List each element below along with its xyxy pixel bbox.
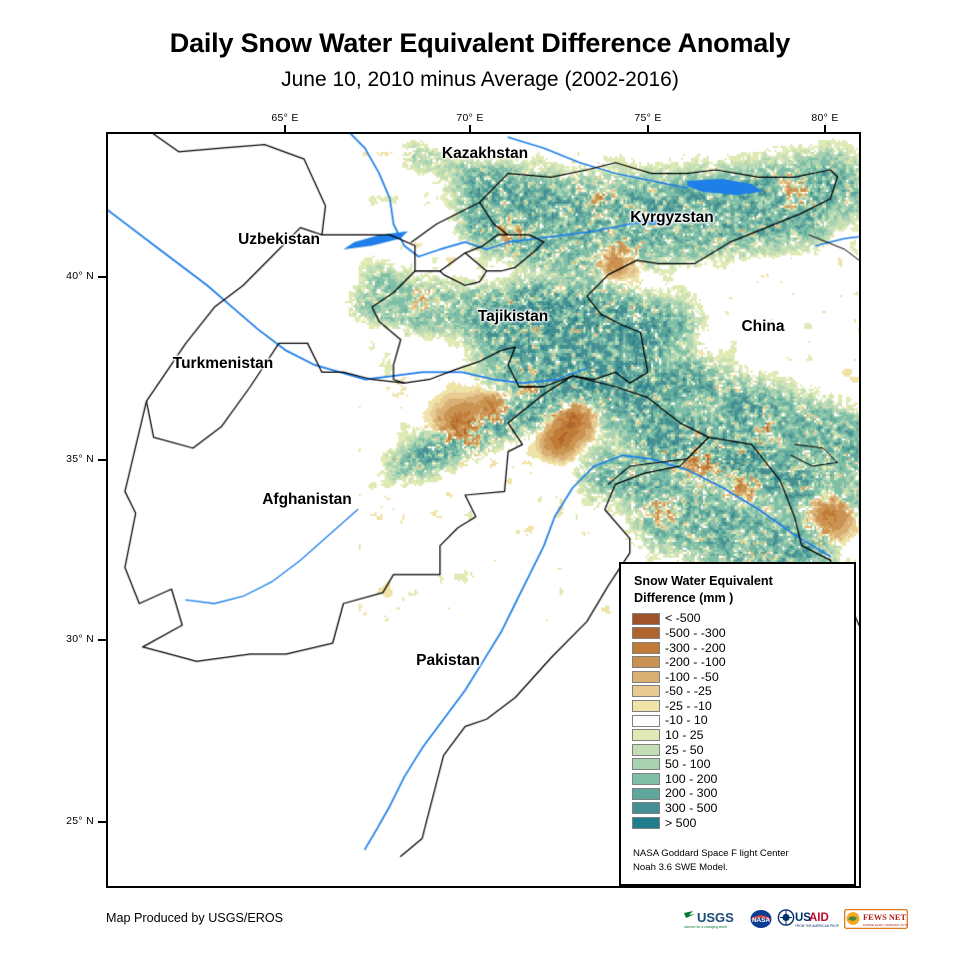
country-label-afghanistan: Afghanistan xyxy=(262,491,352,509)
legend-row: -100 - -50 xyxy=(632,670,854,685)
legend-row: > 500 xyxy=(632,816,854,831)
lat-tick xyxy=(98,639,106,641)
lat-tick xyxy=(98,459,106,461)
legend-label: -200 - -100 xyxy=(665,656,726,668)
legend-row: 200 - 300 xyxy=(632,786,854,801)
svg-text:USGS: USGS xyxy=(697,910,734,925)
svg-text:science for a changing world: science for a changing world xyxy=(684,925,727,929)
legend-row: 50 - 100 xyxy=(632,757,854,772)
legend-label: 100 - 200 xyxy=(665,773,717,785)
svg-text:FAMINE EARLY WARNING SYSTEMS N: FAMINE EARLY WARNING SYSTEMS NETWORK xyxy=(863,923,908,927)
legend-swatch xyxy=(632,685,660,697)
lon-label: 80° E xyxy=(795,112,855,124)
legend-swatch xyxy=(632,642,660,654)
legend-swatch xyxy=(632,758,660,770)
legend-row: -300 - -200 xyxy=(632,640,854,655)
page-subtitle: June 10, 2010 minus Average (2002-2016) xyxy=(0,68,960,92)
legend-swatch xyxy=(632,773,660,785)
legend-label: -10 - 10 xyxy=(665,714,708,726)
fewsnet-logo[interactable]: FEWS NET FAMINE EARLY WARNING SYSTEMS NE… xyxy=(844,909,908,929)
legend-row: 300 - 500 xyxy=(632,801,854,816)
lon-label: 70° E xyxy=(440,112,500,124)
usgs-logo[interactable]: USGS science for a changing world xyxy=(683,909,745,929)
legend-title-line2: Difference (mm ) xyxy=(634,590,854,607)
lon-label: 75° E xyxy=(618,112,678,124)
svg-text:AID: AID xyxy=(809,912,829,924)
legend-swatch xyxy=(632,627,660,639)
legend-swatch xyxy=(632,613,660,625)
svg-text:NASA: NASA xyxy=(752,917,770,924)
legend-label: 10 - 25 xyxy=(665,729,704,741)
legend-swatch xyxy=(632,671,660,683)
legend-row: 100 - 200 xyxy=(632,772,854,787)
country-label-turkmenistan: Turkmenistan xyxy=(173,355,274,373)
legend-title: Snow Water Equivalent Difference (mm ) xyxy=(621,564,854,609)
legend-title-line1: Snow Water Equivalent xyxy=(634,573,854,590)
legend-label: 25 - 50 xyxy=(665,744,704,756)
map-credit: Map Produced by USGS/EROS xyxy=(106,911,283,925)
lat-label: 35° N xyxy=(36,453,94,465)
country-label-uzbekistan: Uzbekistan xyxy=(238,231,320,249)
legend-row: 10 - 25 xyxy=(632,728,854,743)
page-title: Daily Snow Water Equivalent Difference A… xyxy=(0,28,960,59)
legend-label: -500 - -300 xyxy=(665,627,726,639)
lat-tick xyxy=(98,276,106,278)
legend-label: < -500 xyxy=(665,612,700,624)
svg-text:FROM THE AMERICAN PEOPLE: FROM THE AMERICAN PEOPLE xyxy=(795,924,839,928)
svg-text:FEWS NET: FEWS NET xyxy=(863,913,906,922)
legend-label: 200 - 300 xyxy=(665,787,717,799)
legend-attribution: NASA Goddard Space F light Center Noah 3… xyxy=(633,847,789,875)
country-label-pakistan: Pakistan xyxy=(416,652,480,670)
legend-row: -10 - 10 xyxy=(632,713,854,728)
legend-label: -300 - -200 xyxy=(665,642,726,654)
legend-swatch xyxy=(632,715,660,727)
legend-note-line1: NASA Goddard Space F light Center xyxy=(633,847,789,861)
legend-row: -50 - -25 xyxy=(632,684,854,699)
legend-entries: < -500-500 - -300-300 - -200-200 - -100-… xyxy=(621,609,854,830)
legend-label: 50 - 100 xyxy=(665,758,710,770)
country-label-kyrgyzstan: Kyrgyzstan xyxy=(630,209,714,227)
lat-label: 25° N xyxy=(36,815,94,827)
agency-logos: USGS science for a changing world NASA U… xyxy=(683,909,908,929)
legend-label: -100 - -50 xyxy=(665,671,719,683)
nasa-logo[interactable]: NASA xyxy=(750,909,772,929)
country-label-china: China xyxy=(741,318,784,336)
legend-note-line2: Noah 3.6 SWE Model. xyxy=(633,861,789,875)
lat-label: 30° N xyxy=(36,633,94,645)
lat-tick xyxy=(98,821,106,823)
lat-label: 40° N xyxy=(36,270,94,282)
legend-swatch xyxy=(632,744,660,756)
legend-swatch xyxy=(632,817,660,829)
legend-row: 25 - 50 xyxy=(632,743,854,758)
legend-label: > 500 xyxy=(665,817,696,829)
lon-label: 65° E xyxy=(255,112,315,124)
country-label-kazakhstan: Kazakhstan xyxy=(442,145,528,163)
legend-row: -25 - -10 xyxy=(632,699,854,714)
legend-label: -25 - -10 xyxy=(665,700,712,712)
legend-swatch xyxy=(632,656,660,668)
legend-label: 300 - 500 xyxy=(665,802,717,814)
legend-swatch xyxy=(632,700,660,712)
legend-row: < -500 xyxy=(632,611,854,626)
map-legend: Snow Water Equivalent Difference (mm ) <… xyxy=(619,562,856,886)
legend-row: -200 - -100 xyxy=(632,655,854,670)
legend-swatch xyxy=(632,788,660,800)
country-label-tajikistan: Tajikistan xyxy=(478,308,548,326)
legend-swatch xyxy=(632,729,660,741)
legend-swatch xyxy=(632,802,660,814)
usaid-logo[interactable]: US AID FROM THE AMERICAN PEOPLE xyxy=(777,909,839,929)
legend-label: -50 - -25 xyxy=(665,685,712,697)
legend-row: -500 - -300 xyxy=(632,626,854,641)
